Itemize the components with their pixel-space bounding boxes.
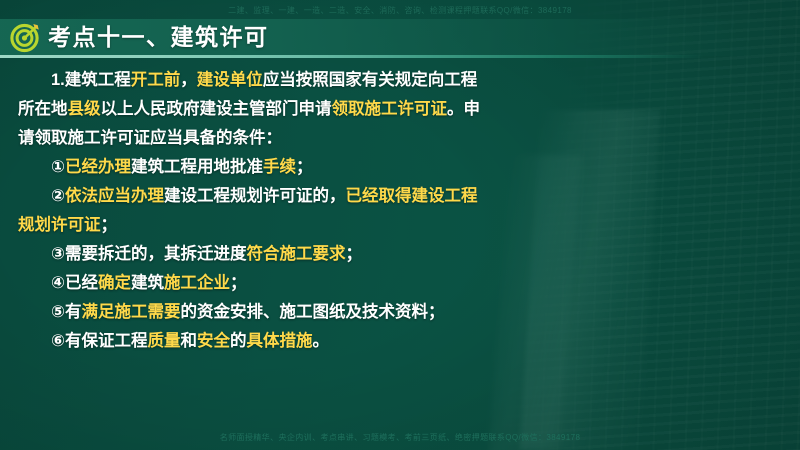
list-item-3: ③需要拆迁的，其拆迁进度符合施工要求； [18, 240, 578, 268]
body-text: ； [230, 274, 247, 292]
highlighted-text: 依法应当办理 [65, 187, 164, 205]
highlighted-text: 建设单位 [197, 71, 263, 89]
body-text: 所在地 [18, 100, 68, 118]
body-text: 和 [180, 332, 197, 350]
body-text: ③需要拆迁的，其拆迁进度 [51, 245, 246, 263]
body-text: ① [51, 158, 65, 176]
list-item-5: ⑤有满足施工需要的资金安排、施工图纸及技术资料； [18, 298, 578, 326]
header-divider-rule [0, 55, 800, 58]
list-item-4: ④已经确定建筑施工企业； [18, 269, 578, 297]
highlighted-text: 领取施工许可证 [332, 100, 448, 118]
body-text: ② [51, 187, 65, 205]
body-text: 建设工程规划许可证的， [164, 187, 346, 205]
list-item-6: ⑥有保证工程质量和安全的具体措施。 [18, 327, 578, 355]
highlighted-text: 符合施工要求 [246, 245, 345, 263]
body-text: 。申 [447, 100, 480, 118]
body-text: 的资金安排、施工图纸及技术资料； [180, 303, 444, 321]
lesson-body: 1.建筑工程开工前，建设单位应当按照国家有关规定向工程 所在地县级以上人民政府建… [18, 66, 578, 356]
header: 考点十一、建筑许可 [9, 21, 269, 53]
highlighted-text: 具体措施 [246, 332, 312, 350]
highlighted-text: 已经办理 [65, 158, 131, 176]
highlighted-text: 满足施工需要 [81, 303, 180, 321]
page-title: 考点十一、建筑许可 [48, 26, 269, 49]
highlighted-text: 安全 [197, 332, 230, 350]
body-text: 以上人民政府建设主管部门申请 [101, 100, 332, 118]
body-text: 1.建筑工程 [51, 71, 131, 89]
body-text: ； [296, 158, 313, 176]
body-text: 应当按照国家有关规定向工程 [263, 71, 478, 89]
highlighted-text: 开工前 [131, 71, 181, 89]
paragraph-intro-1: 1.建筑工程开工前，建设单位应当按照国家有关规定向工程 [18, 66, 578, 94]
highlighted-text: 县级 [68, 100, 101, 118]
list-item-2-continued: 规划许可证； [18, 211, 578, 239]
promo-banner-bottom: 名师面授精华、央企内训、考点串讲、习题模考、考前三页纸、绝密押题联系QQ/微信：… [0, 432, 800, 444]
paragraph-intro-3: 请领取施工许可证应当具备的条件： [18, 124, 578, 152]
list-item-1: ①已经办理建筑工程用地批准手续； [18, 153, 578, 181]
target-icon [9, 21, 41, 53]
slide-root: 二建、监理、一建、一造、二造、安全、消防、咨询、检测课程押题联系QQ/微信：38… [0, 0, 800, 450]
body-text: 。 [312, 332, 329, 350]
highlighted-text: 已经取得建设工程 [345, 187, 477, 205]
highlighted-text: 质量 [147, 332, 180, 350]
body-text: ⑥有保证工程 [51, 332, 147, 350]
body-text: 的 [230, 332, 247, 350]
body-text: ； [345, 245, 362, 263]
promo-banner-top: 二建、监理、一建、一造、二造、安全、消防、咨询、检测课程押题联系QQ/微信：38… [0, 5, 800, 17]
highlighted-text: 施工企业 [164, 274, 230, 292]
highlighted-text: 手续 [263, 158, 296, 176]
list-item-2: ②依法应当办理建设工程规划许可证的，已经取得建设工程 [18, 182, 578, 210]
body-text: 建筑工程用地批准 [131, 158, 263, 176]
body-text: ； [101, 216, 118, 234]
body-text: ， [180, 71, 197, 89]
body-text: ⑤有 [51, 303, 81, 321]
body-text: 请领取施工许可证应当具备的条件： [18, 129, 282, 147]
body-text: ④已经 [51, 274, 98, 292]
paragraph-intro-2: 所在地县级以上人民政府建设主管部门申请领取施工许可证。申 [18, 95, 578, 123]
highlighted-text: 确定 [98, 274, 131, 292]
highlighted-text: 规划许可证 [18, 216, 101, 234]
body-text: 建筑 [131, 274, 164, 292]
